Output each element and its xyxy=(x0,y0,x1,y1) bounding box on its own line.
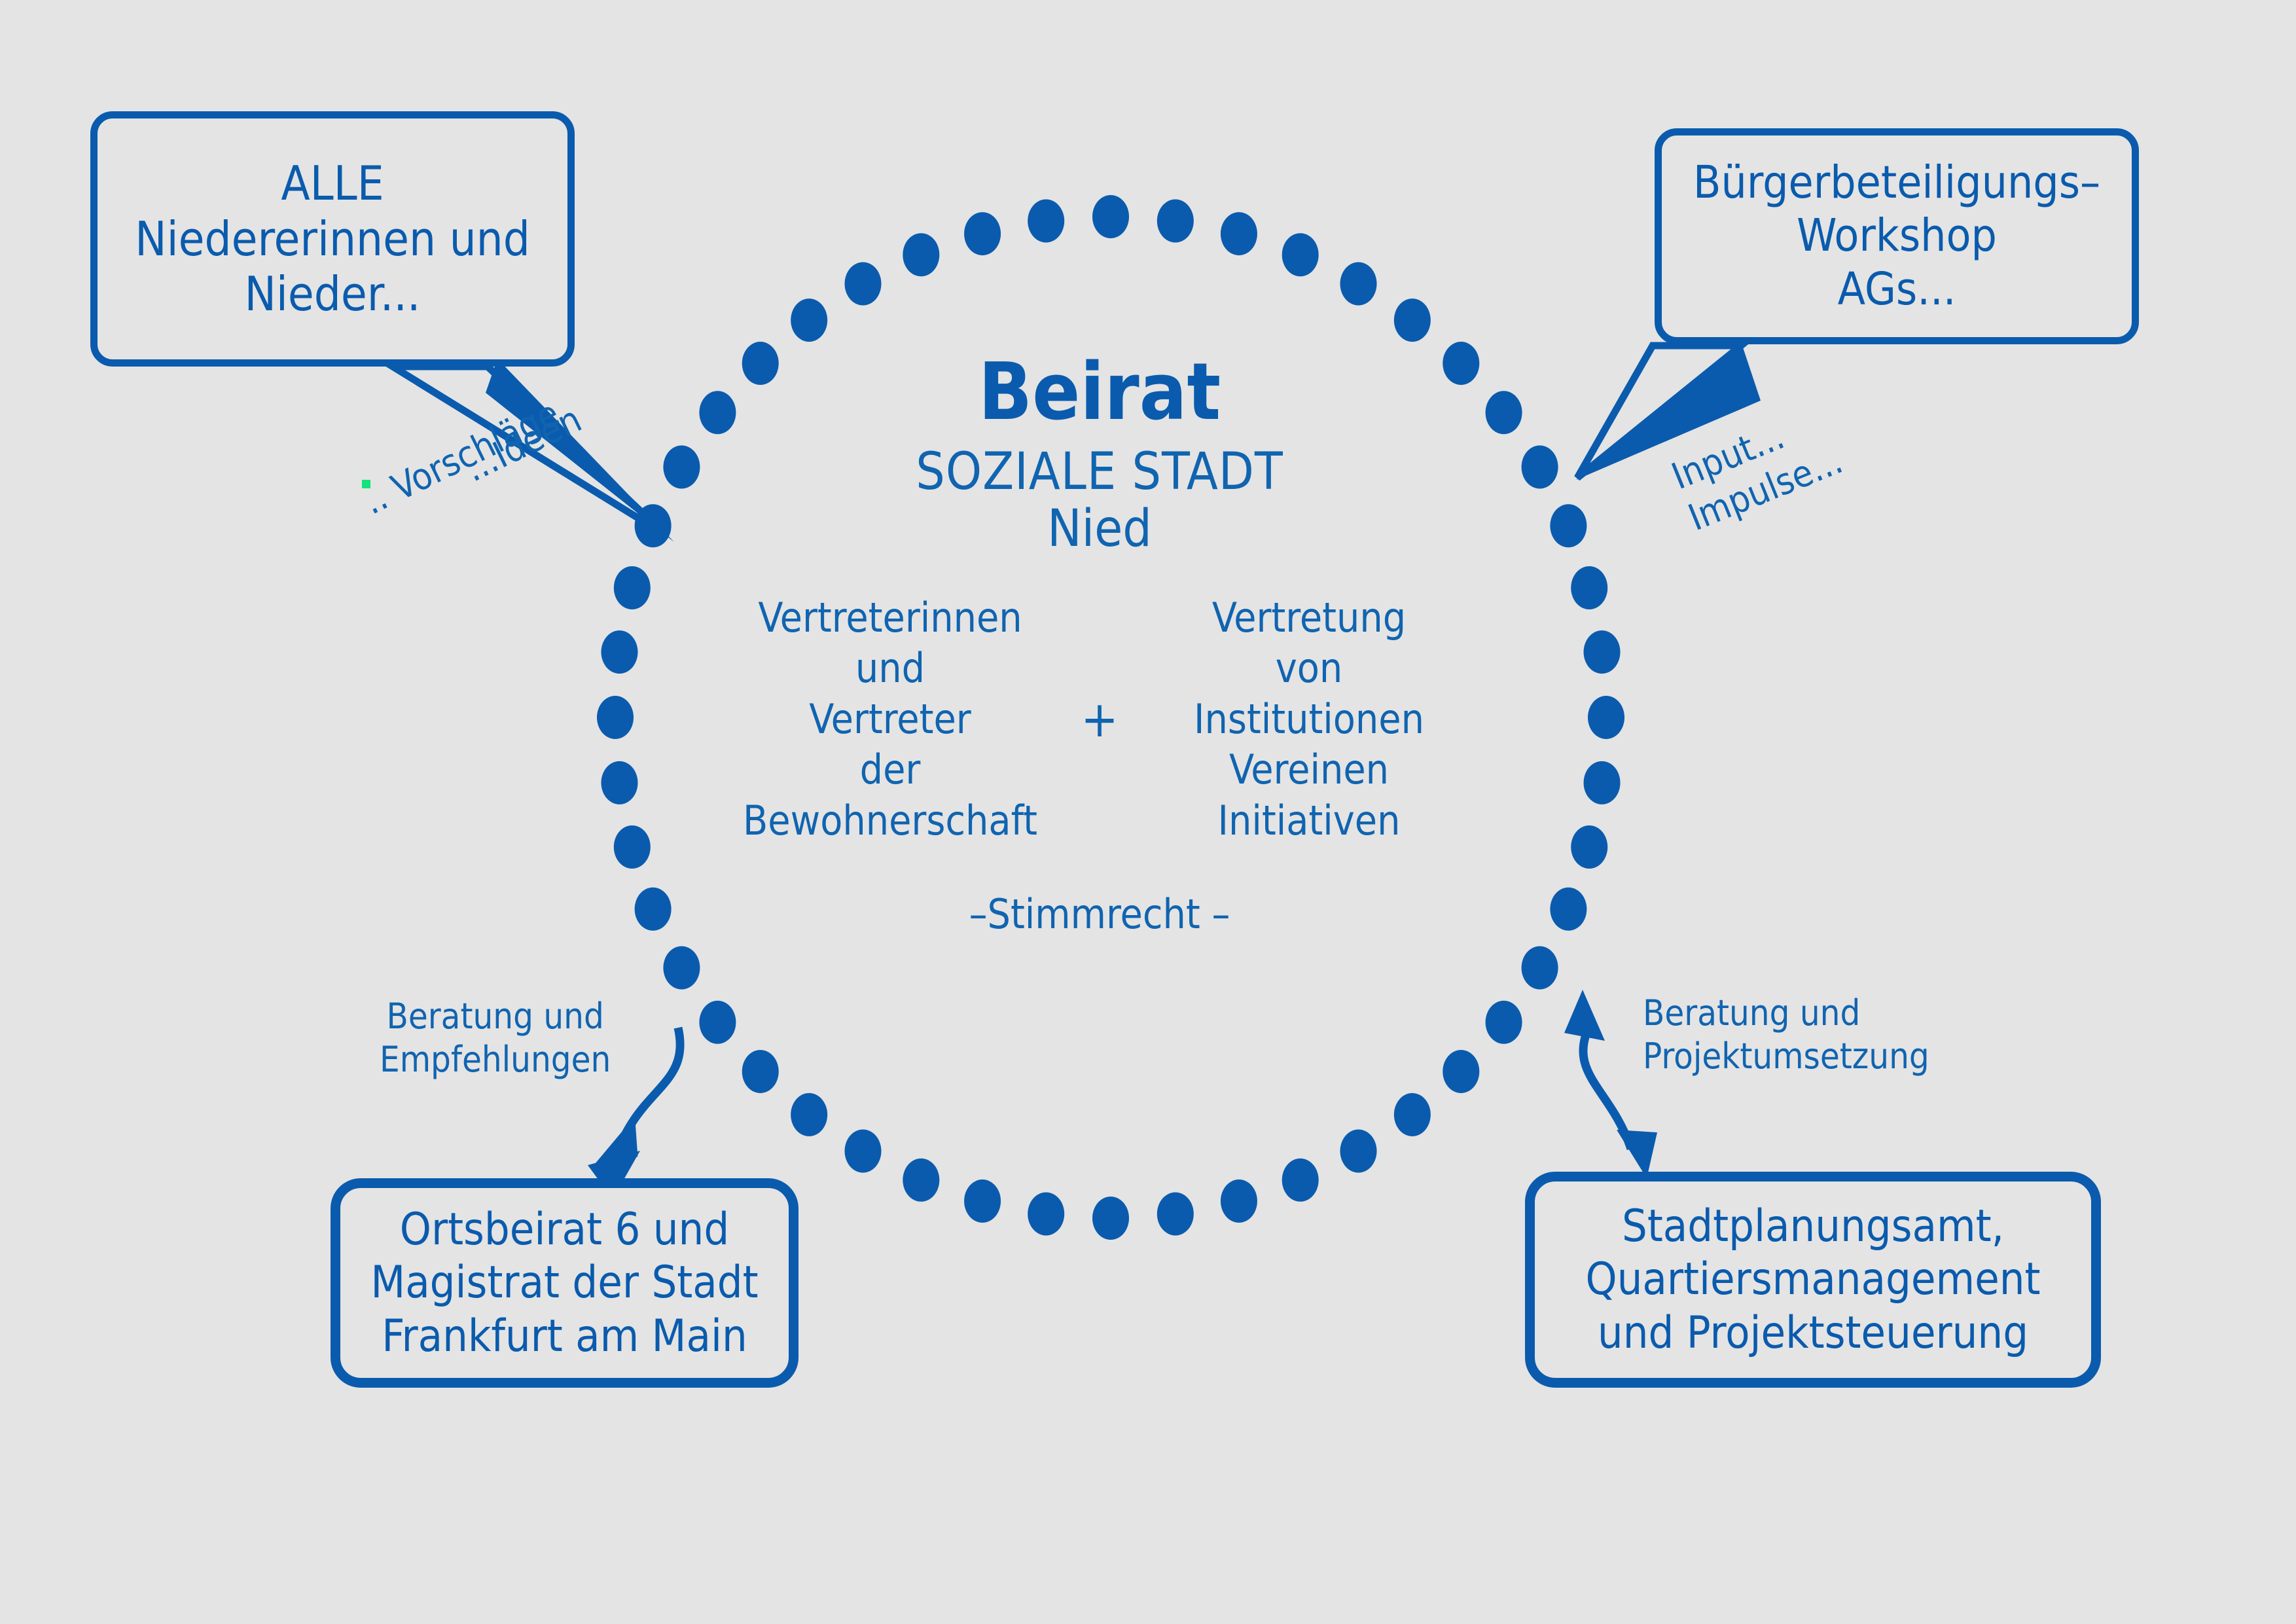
circle-dot xyxy=(1340,1130,1377,1173)
green-marker-icon xyxy=(362,480,370,488)
circle-dot xyxy=(1486,1001,1522,1044)
circle-dot xyxy=(1221,212,1257,255)
box-ortsbeirat-magistrat[interactable]: Ortsbeirat 6 und Magistrat der Stadt Fra… xyxy=(331,1178,798,1388)
speech-bubble-workshops[interactable]: Bürgerbeteiligungs– Workshop AGs... xyxy=(1655,128,2139,344)
speech-bubble-workshops-text: Bürgerbeteiligungs– Workshop AGs... xyxy=(1693,156,2100,316)
speech-bubble-residents[interactable]: ALLE Niedererinnen und Nieder... xyxy=(90,111,575,367)
circle-dot xyxy=(1571,825,1607,869)
page-title: Beirat xyxy=(978,353,1221,432)
subtitle-line-1: SOZIALE STADT xyxy=(916,444,1283,501)
circle-dot xyxy=(791,298,827,342)
circle-dot xyxy=(597,696,634,739)
circle-dot xyxy=(1394,298,1431,342)
circle-dot xyxy=(1522,947,1558,990)
circle-center-content: Beirat SOZIALE STADT Nied Vertreterinnen… xyxy=(681,353,1518,938)
circle-dot xyxy=(1282,1159,1319,1202)
circle-dot xyxy=(1282,233,1319,276)
circle-dot xyxy=(964,1180,1001,1223)
membership-columns: Vertreterinnen und Vertreter der Bewohne… xyxy=(681,592,1518,846)
annotation-beratung-projektumsetzung: Beratung und Projektumsetzung xyxy=(1643,992,1929,1078)
circle-dot xyxy=(1092,1197,1129,1240)
circle-dot xyxy=(903,1159,939,1202)
plus-icon: + xyxy=(1060,690,1139,748)
circle-dot xyxy=(1550,888,1587,931)
circle-dot xyxy=(699,1001,736,1044)
box-stadtplanungsamt-text: Stadtplanungsamt, Quartiersmanagement un… xyxy=(1585,1200,2040,1360)
circle-dot xyxy=(845,262,882,305)
circle-dot xyxy=(614,825,651,869)
circle-dot xyxy=(1588,696,1624,739)
circle-dot xyxy=(1443,1050,1479,1093)
circle-dot xyxy=(614,566,651,609)
box-stadtplanungsamt[interactable]: Stadtplanungsamt, Quartiersmanagement un… xyxy=(1525,1172,2101,1388)
box-ortsbeirat-magistrat-text: Ortsbeirat 6 und Magistrat der Stadt Fra… xyxy=(370,1203,758,1363)
subtitle-line-2: Nied xyxy=(1047,501,1152,558)
circle-dot xyxy=(663,947,700,990)
circle-dot xyxy=(964,212,1001,255)
circle-dot xyxy=(1571,566,1607,609)
circle-dot xyxy=(1584,761,1621,804)
circle-dot xyxy=(1028,1192,1064,1235)
circle-dot xyxy=(601,630,637,674)
circle-dot xyxy=(1028,200,1064,243)
circle-dot xyxy=(635,888,672,931)
diagram-canvas: Beirat SOZIALE STADT Nied Vertreterinnen… xyxy=(0,0,2296,1624)
circle-dot xyxy=(791,1093,827,1136)
circle-dot xyxy=(601,761,637,804)
circle-dot xyxy=(1394,1093,1431,1136)
column-residents: Vertreterinnen und Vertreter der Bewohne… xyxy=(720,592,1060,846)
circle-dot xyxy=(1340,262,1377,305)
circle-dot xyxy=(1584,630,1621,674)
circle-dot xyxy=(903,233,939,276)
circle-dot xyxy=(845,1130,882,1173)
speech-bubble-residents-text: ALLE Niedererinnen und Nieder... xyxy=(135,156,530,323)
circle-dot xyxy=(1522,446,1558,489)
circle-dot xyxy=(1092,195,1129,238)
column-institutions: Vertretung von Institutionen Vereinen In… xyxy=(1139,592,1479,846)
circle-dot xyxy=(1221,1180,1257,1223)
annotation-beratung-empfehlungen: Beratung und Empfehlungen xyxy=(380,995,611,1081)
circle-dot xyxy=(742,1050,779,1093)
annotation-input-impulse: Input... Impulse... xyxy=(1666,397,1849,541)
circle-dot xyxy=(1157,200,1194,243)
voting-note: –Stimmrecht – xyxy=(969,890,1230,938)
circle-dot xyxy=(1157,1192,1194,1235)
circle-dot xyxy=(1550,504,1587,547)
circle-dot xyxy=(635,504,672,547)
